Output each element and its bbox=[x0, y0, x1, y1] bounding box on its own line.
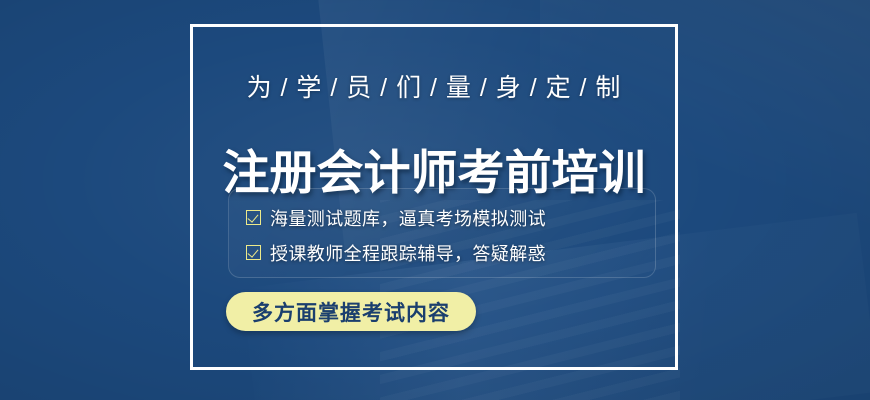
cta-button[interactable]: 多方面掌握考试内容 bbox=[226, 292, 476, 331]
tagline: 为 / 学 / 员 / 们 / 量 / 身 / 定 / 制 bbox=[190, 68, 678, 104]
list-item-label: 授课教师全程跟踪辅导，答疑解惑 bbox=[270, 240, 546, 266]
checkbox-checked-icon bbox=[246, 245, 261, 260]
promo-banner: 为 / 学 / 员 / 们 / 量 / 身 / 定 / 制 注册会计师考前培训 … bbox=[0, 0, 870, 400]
list-item: 海量测试题库，逼真考场模拟测试 bbox=[246, 200, 646, 235]
feature-list: 海量测试题库，逼真考场模拟测试 授课教师全程跟踪辅导，答疑解惑 bbox=[246, 200, 646, 270]
checkbox-checked-icon bbox=[246, 210, 261, 225]
list-item-label: 海量测试题库，逼真考场模拟测试 bbox=[270, 205, 546, 231]
banner-content: 为 / 学 / 员 / 们 / 量 / 身 / 定 / 制 注册会计师考前培训 … bbox=[190, 24, 678, 370]
list-item: 授课教师全程跟踪辅导，答疑解惑 bbox=[246, 235, 646, 270]
